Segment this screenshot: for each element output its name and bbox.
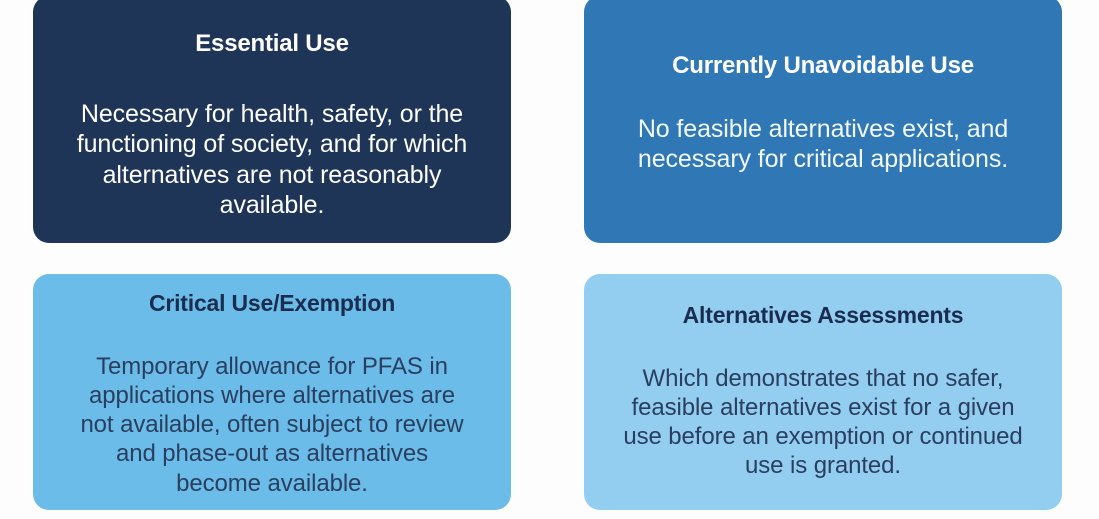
card-body-currently-unavoidable-use: No feasible alternatives exist, and nece…	[618, 114, 1028, 175]
card-essential-use: Essential Use Necessary for health, safe…	[33, 0, 511, 243]
card-title-currently-unavoidable-use: Currently Unavoidable Use	[672, 52, 974, 81]
definition-card-grid: Essential Use Necessary for health, safe…	[0, 0, 1099, 519]
card-body-critical-use-exemption: Temporary allowance for PFAS in applicat…	[72, 352, 472, 498]
card-title-alternatives-assessments: Alternatives Assessments	[683, 302, 964, 330]
card-critical-use-exemption: Critical Use/Exemption Temporary allowan…	[33, 274, 511, 510]
card-title-critical-use-exemption: Critical Use/Exemption	[149, 290, 395, 318]
card-title-essential-use: Essential Use	[195, 30, 348, 59]
card-currently-unavoidable-use: Currently Unavoidable Use No feasible al…	[584, 0, 1062, 243]
card-body-essential-use: Necessary for health, safety, or the fun…	[62, 99, 482, 221]
card-alternatives-assessments: Alternatives Assessments Which demonstra…	[584, 274, 1062, 510]
card-body-alternatives-assessments: Which demonstrates that no safer, feasib…	[613, 364, 1033, 481]
